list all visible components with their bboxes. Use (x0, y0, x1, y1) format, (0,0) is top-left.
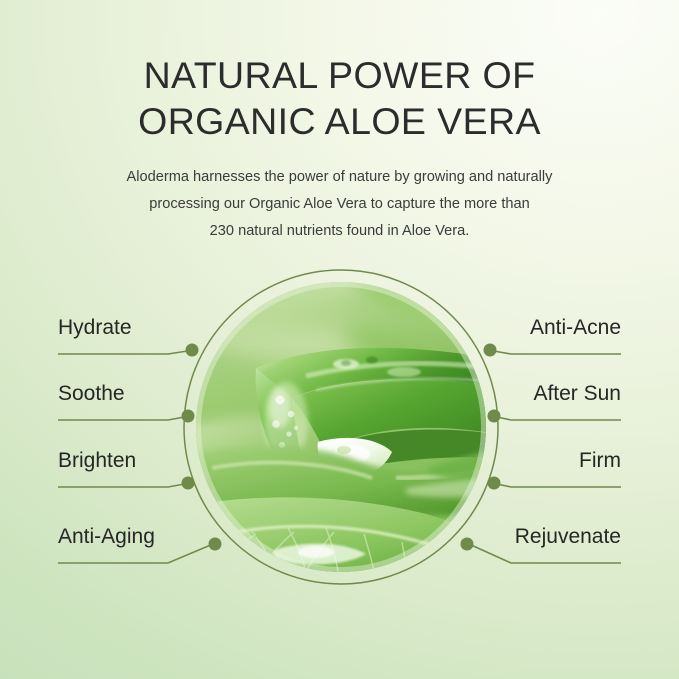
benefit-label-anti-aging: Anti-Aging (58, 525, 155, 549)
benefit-label-after-sun: After Sun (533, 382, 621, 406)
benefit-label-firm: Firm (579, 449, 621, 473)
node-rejuvenate (461, 538, 474, 551)
connector-soothe (58, 416, 190, 420)
aloe-vera-infographic: NATURAL POWER OF ORGANIC ALOE VERA Alode… (0, 0, 679, 679)
connector-hydrate (58, 350, 194, 354)
connector-firm (492, 483, 621, 487)
node-anti-aging (209, 538, 222, 551)
benefit-label-soothe: Soothe (58, 382, 125, 406)
benefit-label-hydrate: Hydrate (58, 316, 132, 340)
benefit-diagram: Hydrate Soothe Brighten Anti-Aging Anti-… (0, 0, 679, 679)
connector-brighten (58, 483, 190, 487)
node-hydrate (186, 344, 199, 357)
node-anti-acne (484, 344, 497, 357)
outer-ring (184, 270, 498, 584)
benefit-label-anti-acne: Anti-Acne (530, 316, 621, 340)
node-firm (488, 477, 501, 490)
benefit-label-rejuvenate: Rejuvenate (515, 525, 621, 549)
node-after-sun (488, 410, 501, 423)
connector-nodes (182, 344, 501, 551)
benefit-label-brighten: Brighten (58, 449, 136, 473)
node-soothe (182, 410, 195, 423)
node-brighten (182, 477, 195, 490)
connector-after-sun (492, 416, 621, 420)
connector-anti-acne (488, 350, 621, 354)
